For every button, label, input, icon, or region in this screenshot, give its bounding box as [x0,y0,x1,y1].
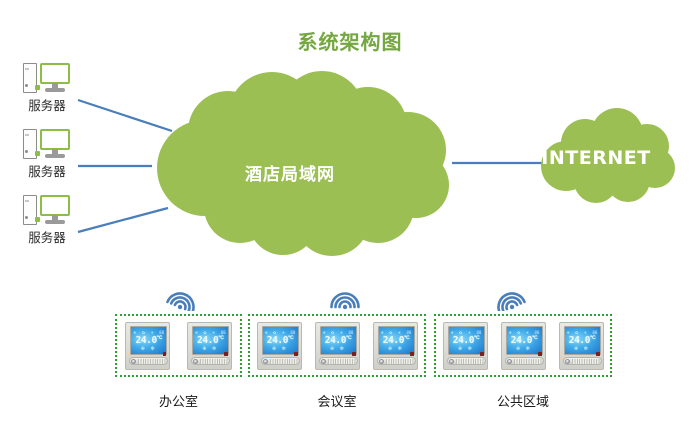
digit-icon: 88 [476,330,481,335]
thermostat-control-strip[interactable] [129,357,168,365]
snowflake-icon: ❄ [509,330,512,335]
thermostat-device[interactable]: ❄ ✿ ☀ 88 24.0℃ ❉ ✻ [501,322,546,370]
thermostat-led-icon [224,352,228,356]
thermostat-lcd: ❄ ✿ ☀ 88 24.0℃ ❉ ✻ [130,326,167,355]
sun-icon: ☀ [150,330,154,335]
monitor-base-icon [45,220,65,224]
thermostat-control-strip[interactable] [505,357,544,365]
server-power-led-icon [35,151,40,156]
thermostat-grille-icon [138,359,166,364]
monitor-base-icon [45,88,65,92]
zone-label-office: 办公室 [115,391,242,410]
server-monitor-icon [40,195,70,216]
thermostat-knob-icon[interactable] [131,359,136,364]
thermostat-temperature: 24.0℃ [263,335,298,346]
server-icon [19,194,75,228]
thermostat-temperature: 24.0℃ [565,335,600,346]
lcd-bottom-icons: ❉ ✻ [321,346,356,352]
thermostat-control-strip[interactable] [191,357,230,365]
thermostat-temperature: 24.0℃ [193,335,228,346]
thermostat-device[interactable]: ❄ ✿ ☀ 88 24.0℃ ❉ ✻ [443,322,488,370]
sun-icon: ☀ [526,330,530,335]
wifi-icon-office [163,283,197,311]
fan-icon: ✿ [142,330,145,335]
thermostat-lcd: ❄ ✿ ☀ 88 24.0℃ ❉ ✻ [506,326,543,355]
server-monitor-icon [40,129,70,150]
server-power-led-icon [35,217,40,222]
server-node-2[interactable]: 服务器 [8,128,86,179]
sun-icon: ☀ [340,330,344,335]
fan-icon: ✿ [389,330,392,335]
digit-icon: 88 [348,330,353,335]
thermostat-grille-icon [572,359,600,364]
server-tower-button-icon [25,84,28,87]
fan-icon: ✿ [459,330,462,335]
thermostat-lcd: ❄ ✿ ☀ 88 24.0℃ ❉ ✻ [564,326,601,355]
internet-cloud-label: INTERNET [516,147,676,169]
sun-icon: ☀ [212,330,216,335]
thermostat-knob-icon[interactable] [321,359,326,364]
thermostat-knob-icon[interactable] [263,359,268,364]
digit-icon: 88 [534,330,539,335]
server-monitor-icon [40,63,70,84]
thermostat-lcd: ❄ ✿ ☀ 88 24.0℃ ❉ ✻ [262,326,299,355]
thermostat-grille-icon [270,359,298,364]
thermostat-grille-icon [456,359,484,364]
fan-icon: ✿ [575,330,578,335]
digit-icon: 88 [290,330,295,335]
server-tower-button-icon [25,150,28,153]
thermostat-grille-icon [200,359,228,364]
lcd-bottom-icons: ❉ ✻ [565,346,600,352]
zone-group-public-area[interactable]: ❄ ✿ ☀ 88 24.0℃ ❉ ✻ ❄ ✿ [434,314,612,377]
thermostat-led-icon [294,352,298,356]
thermostat-device[interactable]: ❄ ✿ ☀ 88 24.0℃ ❉ ✻ [373,322,418,370]
server-tower-button-icon [25,216,28,219]
server-node-1[interactable]: 服务器 [8,62,86,113]
thermostat-led-icon [596,352,600,356]
snowflake-icon: ❄ [451,330,454,335]
server-tower-slot-icon [25,200,29,202]
fan-icon: ✿ [203,330,206,335]
thermostat-knob-icon[interactable] [507,359,512,364]
thermostat-device[interactable]: ❄ ✿ ☀ 88 24.0℃ ❉ ✻ [257,322,302,370]
thermostat-temperature: 24.0℃ [131,335,166,346]
server-label: 服务器 [8,230,86,245]
wifi-icon-public-area [495,283,529,311]
thermostat-temperature: 24.0℃ [507,335,542,346]
zone-label-meeting-room: 会议室 [248,391,426,410]
thermostat-temperature: 24.0℃ [449,335,484,346]
zone-label-public-area: 公共区域 [434,391,612,410]
thermostat-lcd: ❄ ✿ ☀ 88 24.0℃ ❉ ✻ [320,326,357,355]
thermostat-device[interactable]: ❄ ✿ ☀ 88 24.0℃ ❉ ✻ [559,322,604,370]
server-icon [19,128,75,162]
thermostat-knob-icon[interactable] [449,359,454,364]
sun-icon: ☀ [398,330,402,335]
server-icon [19,62,75,96]
thermostat-device[interactable]: ❄ ✿ ☀ 88 24.0℃ ❉ ✻ [315,322,360,370]
server-tower-slot-icon [25,134,29,136]
thermostat-knob-icon[interactable] [193,359,198,364]
hotel-lan-cloud-label: 酒店局域网 [180,160,400,185]
snowflake-icon: ❄ [381,330,384,335]
zone-group-office[interactable]: ❄ ✿ ☀ 88 24.0℃ ❉ ✻ ❄ ✿ [115,314,242,377]
lcd-bottom-icons: ❉ ✻ [193,346,228,352]
fan-icon: ✿ [331,330,334,335]
diagram-canvas: 系统架构图 [0,0,700,435]
link-server3-to-lan [78,208,168,232]
thermostat-lcd: ❄ ✿ ☀ 88 24.0℃ ❉ ✻ [448,326,485,355]
lcd-bottom-icons: ❉ ✻ [449,346,484,352]
thermostat-led-icon [538,352,542,356]
lcd-bottom-icons: ❉ ✻ [379,346,414,352]
thermostat-knob-icon[interactable] [565,359,570,364]
sun-icon: ☀ [468,330,472,335]
server-label: 服务器 [8,164,86,179]
thermostat-led-icon [352,352,356,356]
thermostat-control-strip[interactable] [319,357,358,365]
thermostat-device[interactable]: ❄ ✿ ☀ 88 24.0℃ ❉ ✻ [187,322,232,370]
sun-icon: ☀ [282,330,286,335]
digit-icon: 88 [592,330,597,335]
server-tower-slot-icon [25,68,29,70]
digit-icon: 88 [221,330,226,335]
thermostat-control-strip[interactable] [377,357,416,365]
snowflake-icon: ❄ [133,330,136,335]
link-server1-to-lan [78,100,172,131]
snowflake-icon: ❄ [323,330,326,335]
thermostat-led-icon [480,352,484,356]
digit-icon: 88 [406,330,411,335]
thermostat-control-strip[interactable] [447,357,486,365]
thermostat-control-strip[interactable] [563,357,602,365]
lcd-bottom-icons: ❉ ✻ [263,346,298,352]
thermostat-grille-icon [514,359,542,364]
fan-icon: ✿ [517,330,520,335]
snowflake-icon: ❄ [195,330,198,335]
lcd-bottom-icons: ❉ ✻ [131,346,166,352]
thermostat-led-icon [163,352,167,356]
monitor-base-icon [45,154,65,158]
thermostat-grille-icon [386,359,414,364]
snowflake-icon: ❄ [567,330,570,335]
thermostat-control-strip[interactable] [261,357,300,365]
thermostat-led-icon [410,352,414,356]
thermostat-grille-icon [328,359,356,364]
lcd-bottom-icons: ❉ ✻ [507,346,542,352]
fan-icon: ✿ [273,330,276,335]
sun-icon: ☀ [584,330,588,335]
server-power-led-icon [35,85,40,90]
thermostat-knob-icon[interactable] [379,359,384,364]
zone-group-meeting-room[interactable]: ❄ ✿ ☀ 88 24.0℃ ❉ ✻ ❄ ✿ [248,314,426,377]
snowflake-icon: ❄ [265,330,268,335]
thermostat-lcd: ❄ ✿ ☀ 88 24.0℃ ❉ ✻ [192,326,229,355]
server-label: 服务器 [8,98,86,113]
thermostat-lcd: ❄ ✿ ☀ 88 24.0℃ ❉ ✻ [378,326,415,355]
thermostat-temperature: 24.0℃ [379,335,414,346]
server-node-3[interactable]: 服务器 [8,194,86,245]
wifi-icon-meeting-room [328,283,362,311]
thermostat-device[interactable]: ❄ ✿ ☀ 88 24.0℃ ❉ ✻ [125,322,170,370]
thermostat-temperature: 24.0℃ [321,335,356,346]
digit-icon: 88 [159,330,164,335]
